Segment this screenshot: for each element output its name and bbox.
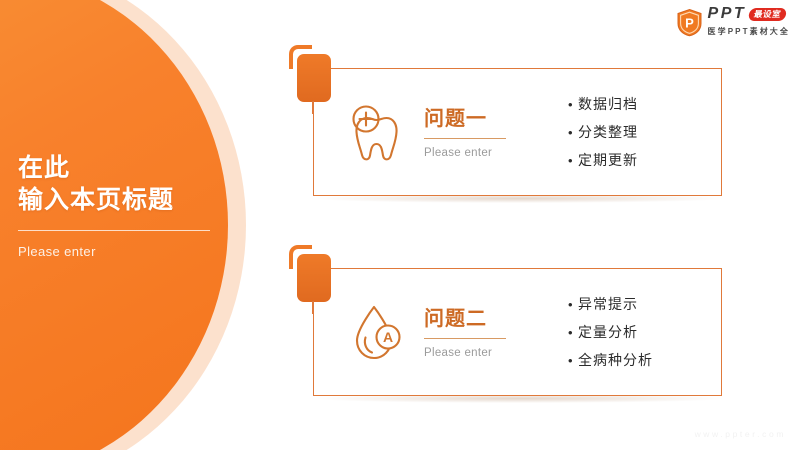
page-subtitle: Please enter [18,244,228,259]
list-item: • 全病种分析 [568,351,721,370]
logo-tag-badge: 最设室 [748,8,787,21]
card-1-heading: 问题一 [424,107,550,131]
bullet-dot-icon: • [568,152,578,170]
blood-drop-a-icon: A [342,293,414,371]
card-2-subtitle: Please enter [424,347,550,359]
slide-canvas: 在此 输入本页标题 Please enter 问题一 Please enter [0,0,800,450]
card-2-heading: 问题二 [424,307,550,331]
card-2-heading-divider [424,338,506,339]
watermark: www.ppter.com [695,429,786,439]
shield-icon: P [676,8,703,37]
card-2-bullet-list: • 异常提示 • 定量分析 • 全病种分析 [568,294,721,370]
card-1-heading-block: 问题一 Please enter [424,105,550,159]
brand-logo[interactable]: P PPT 最设室 医学PPT素材大全 [676,6,790,38]
page-title-line-1: 在此 [18,152,228,184]
list-item-label: 数据归档 [578,95,638,113]
list-item-label: 定量分析 [578,323,638,341]
card-2-heading-block: 问题二 Please enter [424,305,550,359]
title-divider [18,230,210,231]
svg-text:P: P [685,15,694,30]
bullet-dot-icon: • [568,352,578,370]
badge-stem-icon [312,301,314,314]
badge-stem-icon [312,101,314,114]
card-1-heading-divider [424,138,506,139]
page-title-line-2: 输入本页标题 [18,184,228,216]
bullet-dot-icon: • [568,124,578,142]
list-item-label: 全病种分析 [578,351,653,369]
tooth-plus-icon [342,93,414,171]
bullet-dot-icon: • [568,324,578,342]
list-item-label: 异常提示 [578,295,638,313]
left-panel-content: 在此 输入本页标题 Please enter [18,152,228,259]
svg-text:A: A [383,329,393,345]
list-item: • 定量分析 [568,323,721,342]
card-1-bullet-list: • 数据归档 • 分类整理 • 定期更新 [568,94,721,170]
list-item: • 数据归档 [568,95,721,114]
list-item-label: 定期更新 [578,151,638,169]
list-item-label: 分类整理 [578,123,638,141]
card-1-badge [297,54,331,102]
bullet-dot-icon: • [568,96,578,114]
badge-hook-icon [289,45,312,69]
logo-brand-text: PPT [708,6,747,22]
content-card-2[interactable]: A 问题二 Please enter • 异常提示 • 定量分析 [313,268,722,396]
list-item: • 分类整理 [568,123,721,142]
card-1-subtitle: Please enter [424,147,550,159]
card-2-badge [297,254,331,302]
badge-hook-icon [289,245,312,269]
logo-tagline: 医学PPT素材大全 [708,27,790,36]
content-card-1[interactable]: 问题一 Please enter • 数据归档 • 分类整理 • 定期更新 [313,68,722,196]
bullet-dot-icon: • [568,296,578,314]
list-item: • 定期更新 [568,151,721,170]
list-item: • 异常提示 [568,295,721,314]
